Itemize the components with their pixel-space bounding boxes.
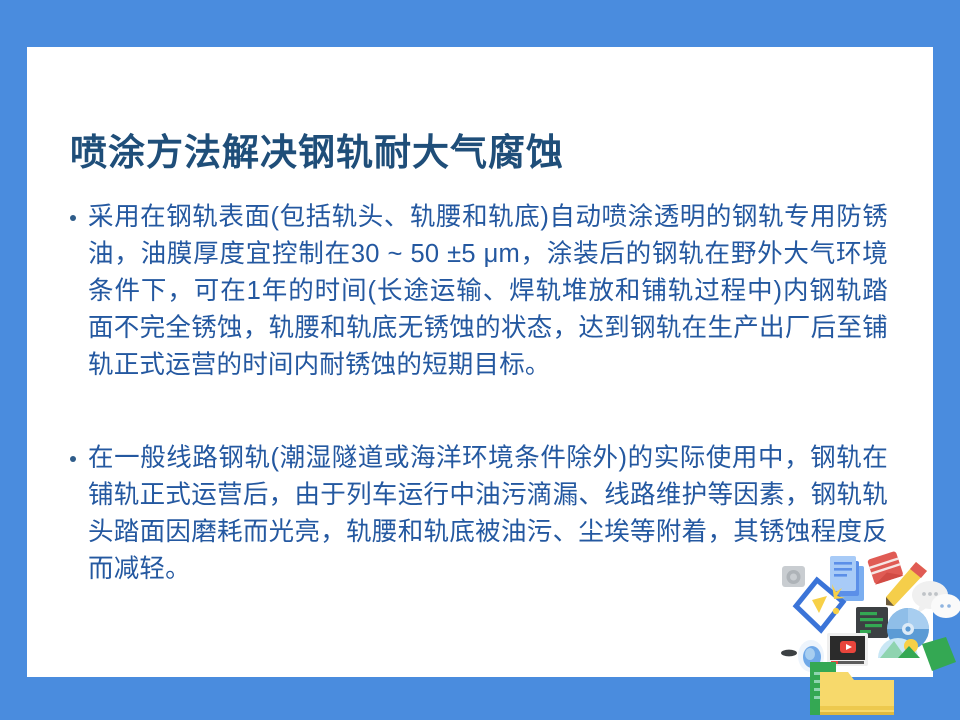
bullet-list: 采用在钢轨表面(包括轨头、轨腰和轨底)自动喷涂透明的钢轨专用防锈油，油膜厚度宜控… (70, 199, 888, 588)
play-button-icon (840, 641, 856, 653)
video-player-icon (827, 633, 868, 666)
page-title: 喷涂方法解决钢轨耐大气腐蚀 (70, 122, 564, 176)
bullet-text: 采用在钢轨表面(包括轨头、轨腰和轨底)自动喷涂透明的钢轨专用防锈油，油膜厚度宜控… (88, 199, 888, 384)
folder-icon (820, 672, 894, 715)
bullet-marker (70, 215, 76, 221)
green-tag-icon (922, 637, 956, 671)
red-book-icon (867, 551, 904, 585)
bullet-text: 在一般线路钢轨(潮湿隧道或海洋环境条件除外)的实际使用中，钢轨在铺轨正式运营后，… (88, 440, 888, 588)
list-item: 采用在钢轨表面(包括轨头、轨腰和轨底)自动喷涂透明的钢轨专用防锈油，油膜厚度宜控… (70, 199, 888, 384)
bullet-marker (70, 456, 76, 462)
decorative-icon-cluster (770, 540, 960, 720)
slide-canvas: 喷涂方法解决钢轨耐大气腐蚀 采用在钢轨表面(包括轨头、轨腰和轨底)自动喷涂透明的… (0, 0, 960, 720)
image-photo-icon (878, 638, 920, 658)
list-item: 在一般线路钢轨(潮湿隧道或海洋环境条件除外)的实际使用中，钢轨在铺轨正式运营后，… (70, 440, 888, 588)
camera-icon (782, 566, 805, 587)
